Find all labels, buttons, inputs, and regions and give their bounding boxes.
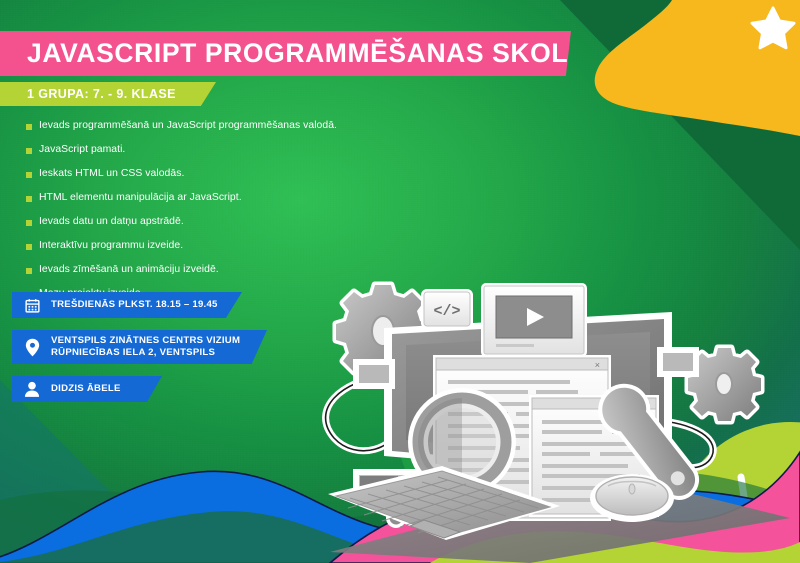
info-badge-group: TREŠDIENĀS PLKST. 18.15 – 19.45 VENTSPIL… xyxy=(12,292,267,414)
bullet-square-icon xyxy=(26,148,32,154)
location-pin-icon xyxy=(23,338,41,356)
schedule-badge: TREŠDIENĀS PLKST. 18.15 – 19.45 xyxy=(12,292,242,318)
bullet-square-icon xyxy=(26,196,32,202)
instructor-text: DIDZIS ĀBELE xyxy=(51,383,121,395)
svg-text:</>: </> xyxy=(433,303,460,320)
instructor-badge: DIDZIS ĀBELE xyxy=(12,376,162,402)
person-icon xyxy=(23,380,41,398)
bullet-square-icon xyxy=(26,172,32,178)
location-line-2: RŪPNIECĪBAS IELA 2, VENTSPILS xyxy=(51,347,215,358)
location-text: VENTSPILS ZINĀTNES CENTRS VIZIUMRŪPNIECĪ… xyxy=(51,335,240,359)
list-item: Ieskats HTML un CSS valodās. xyxy=(26,168,426,179)
list-item: Interaktīvu programmu izveide. xyxy=(26,240,426,251)
list-item: JavaScript pamati. xyxy=(26,144,426,155)
list-item-label: HTML elementu manipulācija ar JavaScript… xyxy=(39,192,242,203)
bullet-square-icon xyxy=(26,268,32,274)
bullet-square-icon xyxy=(26,220,32,226)
list-item-label: Ievads datu un datņu apstrādē. xyxy=(39,216,184,227)
bullet-square-icon xyxy=(26,244,32,250)
list-item-label: Ievads zīmēšanā un animāciju izveidē. xyxy=(39,264,219,275)
title-banner: JAVASCRIPT PROGRAMMĒŠANAS SKOLA xyxy=(0,31,571,76)
computer-workstation-illustration: </> × xyxy=(320,270,800,563)
location-line-1: VENTSPILS ZINĀTNES CENTRS VIZIUM xyxy=(51,335,240,346)
subtitle-banner: 1 GRUPA: 7. - 9. KLASE xyxy=(0,82,216,106)
schedule-text: TREŠDIENĀS PLKST. 18.15 – 19.45 xyxy=(51,299,218,311)
video-play-window-icon xyxy=(484,286,584,354)
calendar-icon xyxy=(23,296,41,314)
list-item-label: Ievads programmēšanā un JavaScript progr… xyxy=(39,120,337,131)
list-item-label: Ieskats HTML un CSS valodās. xyxy=(39,168,184,179)
list-item: HTML elementu manipulācija ar JavaScript… xyxy=(26,192,426,203)
group-label: 1 GRUPA: 7. - 9. KLASE xyxy=(0,87,176,101)
list-item-label: Interaktīvu programmu izveide. xyxy=(39,240,183,251)
mouse-icon xyxy=(590,474,674,522)
svg-text:×: × xyxy=(595,360,600,370)
bullet-square-icon xyxy=(26,124,32,130)
page-title: JAVASCRIPT PROGRAMMĒŠANAS SKOLA xyxy=(0,38,588,69)
list-item: Ievads datu un datņu apstrādē. xyxy=(26,216,426,227)
code-tag-icon: </> xyxy=(424,292,470,326)
location-badge: VENTSPILS ZINĀTNES CENTRS VIZIUMRŪPNIECĪ… xyxy=(12,330,267,364)
poster-canvas: JAVASCRIPT PROGRAMMĒŠANAS SKOLA 1 GRUPA:… xyxy=(0,0,800,563)
list-item-label: JavaScript pamati. xyxy=(39,144,125,155)
list-item: Ievads programmēšanā un JavaScript progr… xyxy=(26,120,426,131)
